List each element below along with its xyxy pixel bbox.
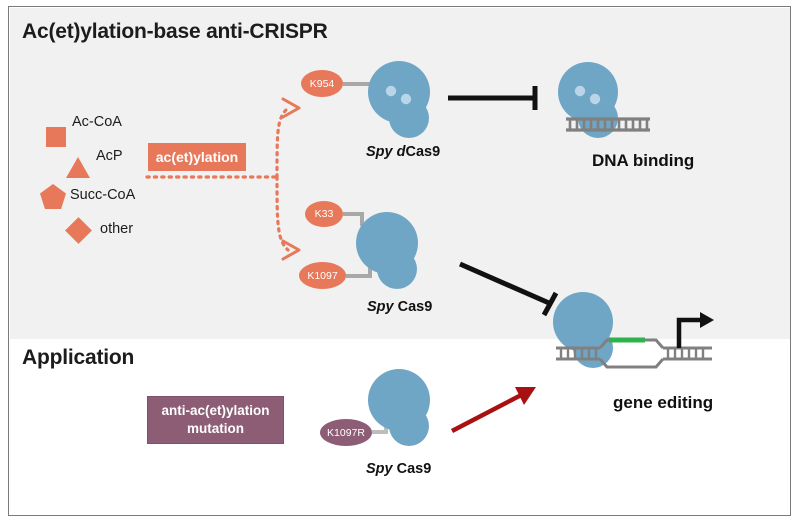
outcome-label-dna-binding: DNA binding (592, 151, 694, 171)
mutation-box-line1: anti-ac(et)ylation (161, 403, 269, 418)
legend-label-succ-coa: Succ-CoA (70, 187, 135, 203)
panel-acetylation-anticrispr (10, 8, 790, 339)
outcome-label-gene-editing: gene editing (613, 393, 713, 413)
residue-tag-k1097r: K1097R (320, 419, 372, 446)
genus-spy-dcas9: Spy (366, 144, 393, 160)
residue-tag-k1097: K1097 (299, 262, 346, 289)
legend-label-other: other (100, 221, 133, 237)
anti-acetylation-mutation-box: anti-ac(et)ylation mutation (147, 396, 284, 444)
protein-label-spy-dcas9: Spy dCas9 (366, 144, 440, 160)
dcas9-name-rest: Cas9 (405, 144, 440, 160)
figure-root: Ac(et)ylation-base anti-CRISPR Applicati… (0, 0, 799, 524)
protein-label-spy-cas9-mutant: Spy Cas9 (366, 461, 431, 477)
acetylation-process-box: ac(et)ylation (148, 143, 246, 171)
panel-title-top: Ac(et)ylation-base anti-CRISPR (22, 20, 328, 44)
legend-label-acp: AcP (96, 148, 123, 164)
legend-shape-square (46, 127, 66, 147)
cas9-mutant-name: Cas9 (393, 461, 432, 477)
panel-title-bottom: Application (22, 346, 134, 370)
cas9-top-name: Cas9 (394, 299, 433, 315)
genus-spy-cas9-top: Spy (367, 299, 394, 315)
legend-label-ac-coa: Ac-CoA (72, 114, 122, 130)
residue-tag-k33: K33 (305, 201, 343, 227)
genus-spy-cas9-mutant: Spy (366, 461, 393, 477)
mutation-box-line2: mutation (187, 421, 244, 436)
legend-shape-triangle (66, 157, 90, 178)
residue-tag-k954: K954 (301, 70, 343, 97)
protein-label-spy-cas9-top: Spy Cas9 (367, 299, 432, 315)
